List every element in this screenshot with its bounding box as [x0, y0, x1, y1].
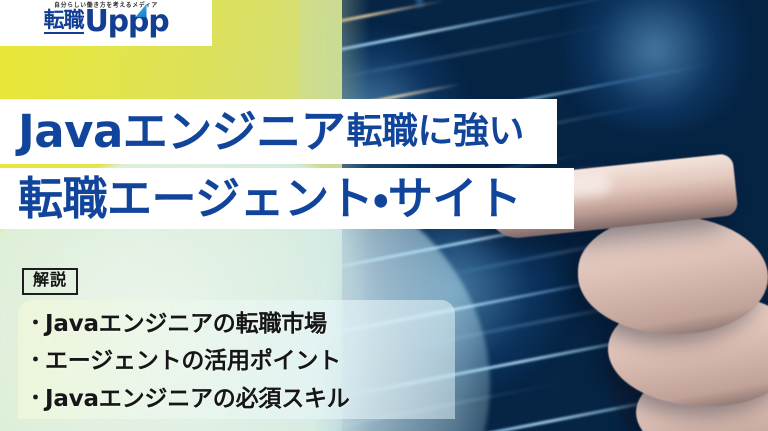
headline-line-1-sub: 転職に強い	[346, 114, 524, 150]
list-item: ・ エージェントの活用ポイント	[26, 343, 456, 380]
site-logo[interactable]: 自分らしい働き方を考えるメディア 転職 Uppp	[0, 0, 212, 46]
list-item-label: Javaエンジニアの転職市場	[45, 306, 327, 343]
logo-wordmark: Uppp	[85, 10, 169, 35]
list-item: ・ Javaエンジニアの転職市場	[26, 306, 456, 343]
list-item-label: Javaエンジニアの必須スキル	[45, 381, 350, 418]
headline-line-2-text: 転職エージェント・サイト	[18, 176, 521, 221]
bullet-list: ・ Javaエンジニアの転職市場 ・ エージェントの活用ポイント ・ Javaエ…	[26, 306, 456, 418]
list-item-label: エージェントの活用ポイント	[45, 343, 341, 380]
logo-kanji: 転職	[44, 10, 84, 34]
bullet-marker-icon: ・	[26, 345, 45, 376]
hand-pointing	[458, 120, 768, 431]
headline-line-2: 転職エージェント・サイト	[0, 168, 574, 229]
status-badge: 解説	[22, 268, 78, 295]
bullet-marker-icon: ・	[26, 308, 45, 339]
finger-upper	[578, 216, 768, 334]
headline-line-1: Javaエンジニア 転職に強い	[0, 99, 557, 164]
headline-line-1-main: Javaエンジニア	[18, 109, 345, 154]
banner: 自分らしい働き方を考えるメディア 転職 Uppp Javaエンジニア 転職に強い…	[0, 0, 768, 431]
list-item: ・ Javaエンジニアの必須スキル	[26, 381, 456, 418]
bullet-marker-icon: ・	[26, 383, 45, 414]
logo-mark: 転職 Uppp	[44, 10, 169, 35]
